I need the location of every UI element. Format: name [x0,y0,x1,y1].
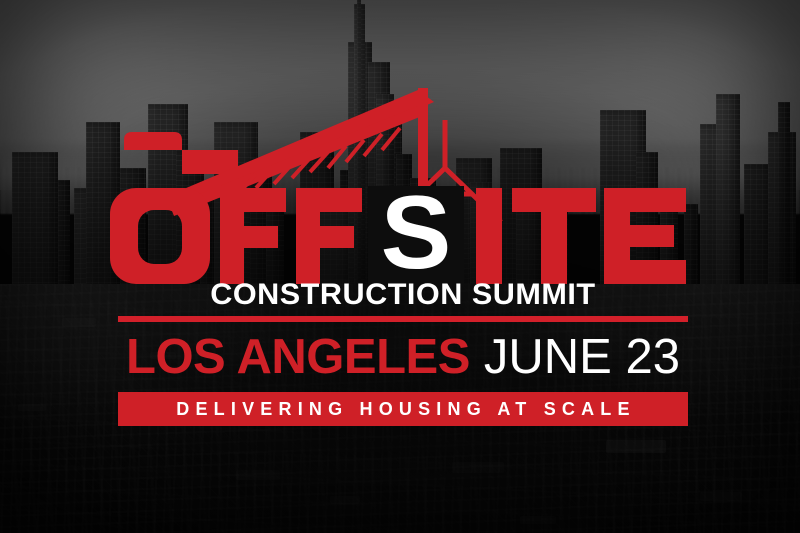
tagline: DELIVERING HOUSING AT SCALE [170,400,635,418]
offsite-construction-summit-poster: S CONSTRUCTION SUMMIT LOS ANGELES [0,0,800,533]
subtitle-row: CONSTRUCTION SUMMIT [118,281,688,309]
city-label: LOS ANGELES [126,333,470,382]
event-logo-lockup: S CONSTRUCTION SUMMIT LOS ANGELES [0,0,800,533]
offsite-wordmark-svg: S [110,186,690,286]
city-date-row: LOS ANGELES JUNE 23 [118,331,688,383]
red-divider-rule [118,316,688,322]
svg-text:S: S [381,186,452,286]
date-label: JUNE 23 [484,333,680,382]
tagline-banner: DELIVERING HOUSING AT SCALE [118,392,688,426]
offsite-wordmark: S [0,186,800,286]
subtitle: CONSTRUCTION SUMMIT [210,280,595,310]
